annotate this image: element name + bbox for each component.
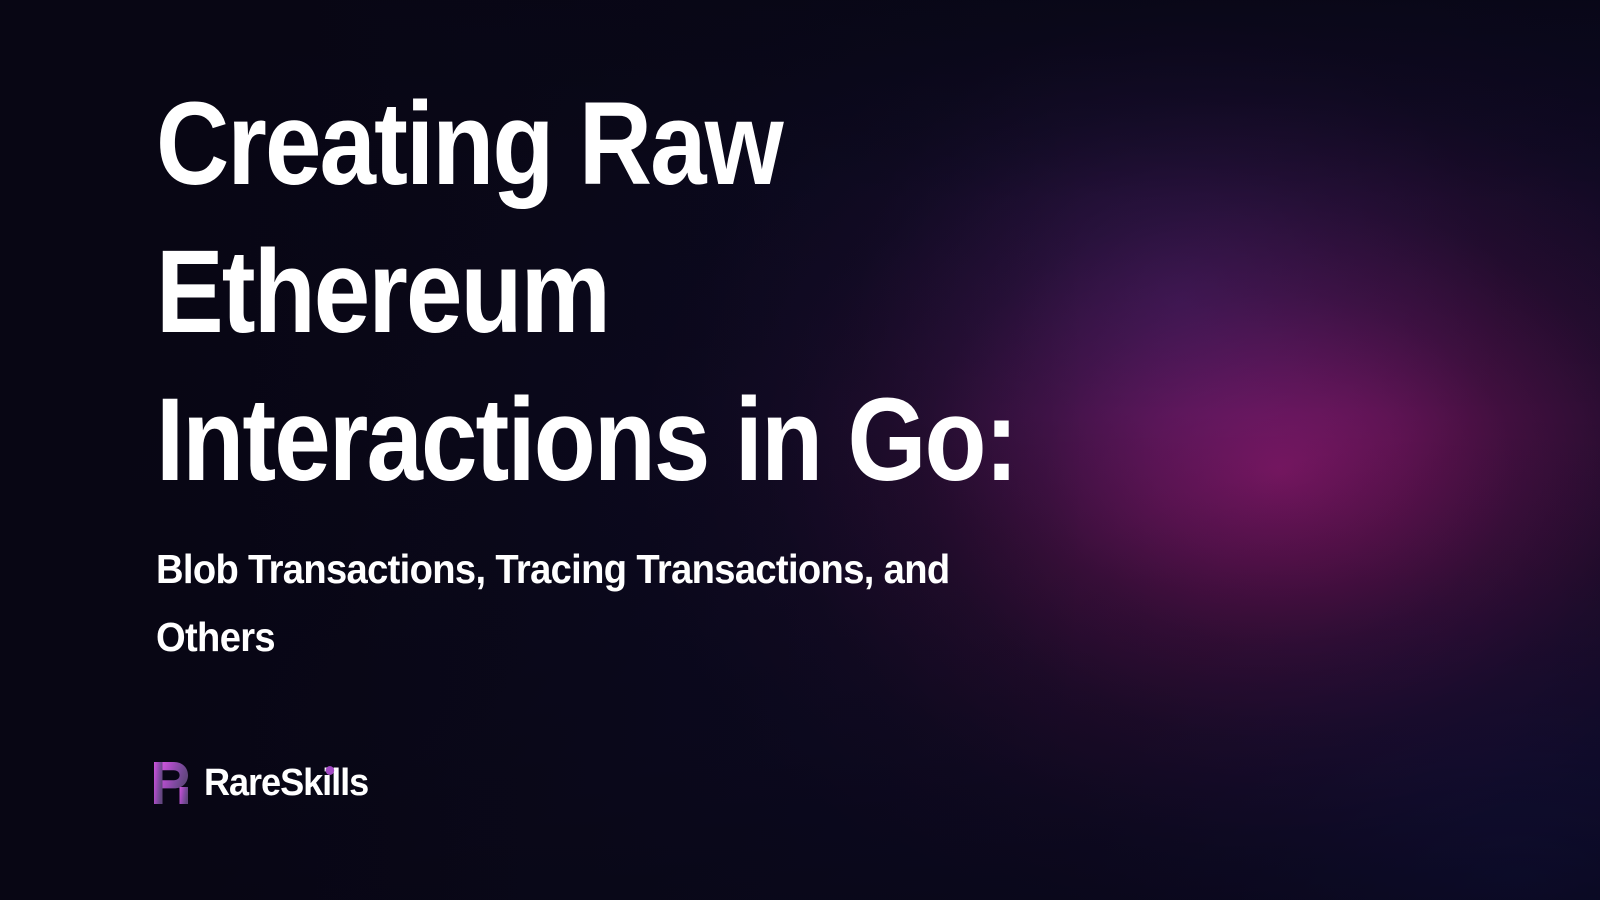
card-content: Creating Raw Ethereum Interactions in Go…	[0, 0, 1600, 900]
brand-name-text: RareSkills	[204, 762, 368, 804]
social-share-card: Creating Raw Ethereum Interactions in Go…	[0, 0, 1600, 900]
page-subtitle: Blob Transactions, Tracing Transactions,…	[156, 535, 1386, 671]
page-title: Creating Raw Ethereum Interactions in Go…	[156, 70, 1266, 514]
rareskills-r-logo-icon	[152, 760, 190, 806]
subtitle-line-2: Others	[156, 603, 1300, 671]
title-line-2: Ethereum	[156, 218, 1111, 366]
brand-tittle-dot-icon	[326, 766, 335, 775]
subtitle-line-1: Blob Transactions, Tracing Transactions,…	[156, 535, 1300, 603]
title-line-1: Creating Raw	[156, 70, 1111, 218]
brand-lockup[interactable]: RareSkills	[152, 760, 377, 806]
brand-name: RareSkills	[204, 762, 368, 805]
title-line-3: Interactions in Go:	[156, 366, 1111, 514]
